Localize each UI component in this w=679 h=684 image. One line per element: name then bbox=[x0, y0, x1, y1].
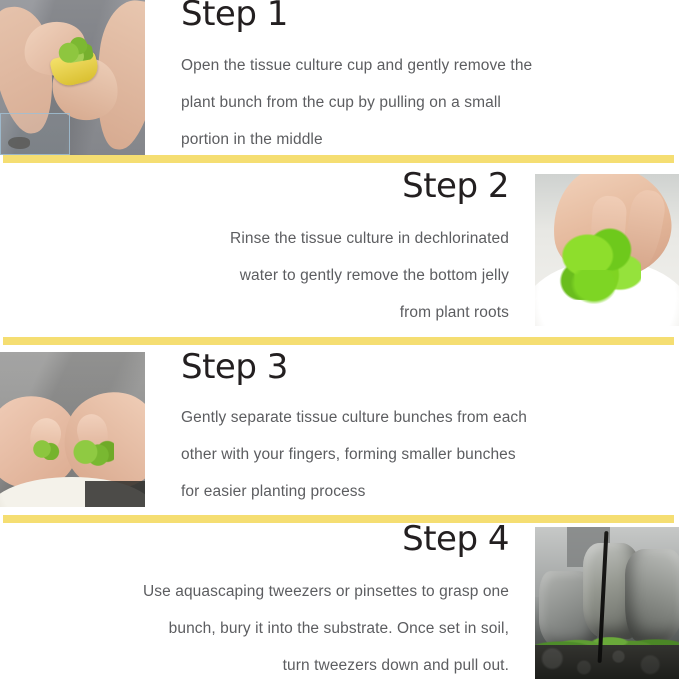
step-2-title: Step 2 bbox=[30, 169, 509, 205]
step-1-line-1: Open the tissue culture cup and gently r… bbox=[181, 47, 645, 84]
left-plant-bunch bbox=[30, 438, 60, 460]
step-4-line-1: Use aquascaping tweezers or pinsettes to… bbox=[30, 573, 509, 610]
tank-rock bbox=[8, 137, 30, 149]
dark-foreground bbox=[85, 481, 145, 507]
step-3-photo bbox=[0, 352, 145, 507]
plant-roots bbox=[571, 270, 617, 304]
step-1-line-2: plant bunch from the cup by pulling on a… bbox=[181, 84, 645, 121]
step-1-title: Step 1 bbox=[181, 0, 645, 33]
aquarium-tank bbox=[0, 113, 70, 155]
step-3-body: Gently separate tissue culture bunches f… bbox=[181, 399, 645, 510]
step-4-line-2: bunch, bury it into the substrate. Once … bbox=[30, 610, 509, 647]
step-1-body: Open the tissue culture cup and gently r… bbox=[181, 47, 645, 158]
step-row-4: Step 4 Use aquascaping tweezers or pinse… bbox=[0, 523, 679, 683]
step-3-line-2: other with your fingers, forming smaller… bbox=[181, 436, 645, 473]
soil-texture bbox=[535, 645, 679, 679]
step-4-text: Step 4 Use aquascaping tweezers or pinse… bbox=[0, 523, 535, 683]
step-1-line-3: portion in the middle bbox=[181, 121, 645, 158]
divider-1 bbox=[3, 155, 674, 163]
step-1-text: Step 1 Open the tissue culture cup and g… bbox=[145, 0, 679, 155]
step-4-body: Use aquascaping tweezers or pinsettes to… bbox=[30, 573, 509, 684]
step-3-text: Step 3 Gently separate tissue culture bu… bbox=[145, 345, 679, 515]
step-4-title: Step 4 bbox=[30, 522, 509, 558]
step-2-line-2: water to gently remove the bottom jelly bbox=[30, 257, 509, 294]
step-3-line-1: Gently separate tissue culture bunches f… bbox=[181, 399, 645, 436]
step-3-line-3: for easier planting process bbox=[181, 473, 645, 510]
step-row-3: Step 3 Gently separate tissue culture bu… bbox=[0, 345, 679, 515]
step-2-text: Step 2 Rinse the tissue culture in dechl… bbox=[0, 163, 535, 337]
divider-2 bbox=[3, 337, 674, 345]
step-4-line-3: turn tweezers down and pull out. bbox=[30, 647, 509, 684]
steps-infographic: Step 1 Open the tissue culture cup and g… bbox=[0, 0, 679, 683]
step-2-body: Rinse the tissue culture in dechlorinate… bbox=[30, 220, 509, 331]
step-2-line-1: Rinse the tissue culture in dechlorinate… bbox=[30, 220, 509, 257]
step-row-2: Step 2 Rinse the tissue culture in dechl… bbox=[0, 163, 679, 337]
step-2-line-3: from plant roots bbox=[30, 294, 509, 331]
step-3-title: Step 3 bbox=[181, 350, 645, 386]
right-plant-bunch bbox=[72, 440, 114, 466]
step-row-1: Step 1 Open the tissue culture cup and g… bbox=[0, 0, 679, 155]
step-4-photo bbox=[535, 527, 679, 679]
step-2-photo bbox=[535, 174, 679, 326]
step-1-photo bbox=[0, 0, 145, 155]
